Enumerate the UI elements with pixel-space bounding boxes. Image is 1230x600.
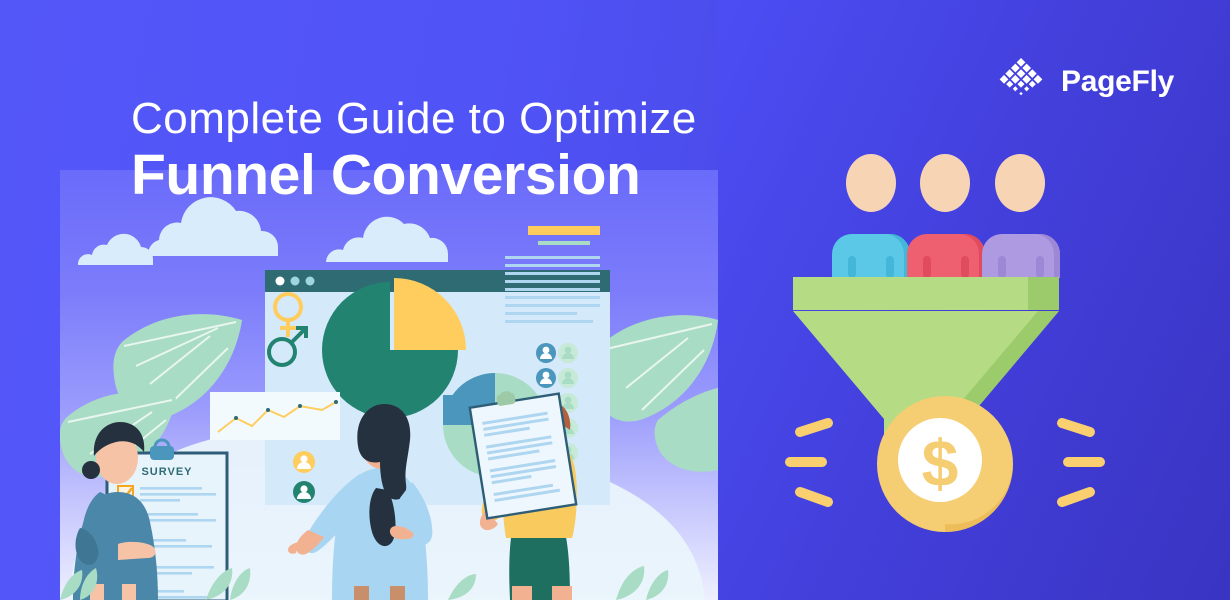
window-dot-icon [291,277,300,286]
cloud-icon [78,234,153,265]
analytics-team-illustration: SURVEY [60,170,718,600]
avatar [558,368,578,388]
avatar [293,481,315,503]
funnel-person-head [846,154,896,212]
banner-stage: SURVEY [0,0,1230,600]
page-title: Complete Guide to Optimize Funnel Conver… [131,96,697,206]
avatar [536,368,556,388]
funnel-person-body-red [907,234,985,278]
cloud-icon [326,217,448,262]
line-chart-card [210,392,340,440]
coin-icon: $ [877,396,1013,532]
window-dot-icon [306,277,315,286]
window-dot-icon [276,277,285,286]
funnel-person-body-cyan [832,234,910,278]
avatar [558,343,578,363]
funnel-person-head [920,154,970,212]
funnel-person-body-purple [982,234,1060,278]
survey-title: SURVEY [141,466,192,478]
avatar [536,343,556,363]
headline-line-2: Funnel Conversion [131,145,697,207]
brand-logo[interactable]: PageFly [995,56,1174,108]
pagefly-diamond-grid-logo-icon [995,56,1047,108]
avatar [293,451,315,473]
document-sheet[interactable] [470,386,576,518]
funnel-person-head [995,154,1045,212]
headline-line-1: Complete Guide to Optimize [131,96,697,143]
brand-name: PageFly [1061,65,1174,99]
dollar-sign-icon: $ [922,426,959,500]
conversion-funnel-illustration: $ [780,130,1110,550]
